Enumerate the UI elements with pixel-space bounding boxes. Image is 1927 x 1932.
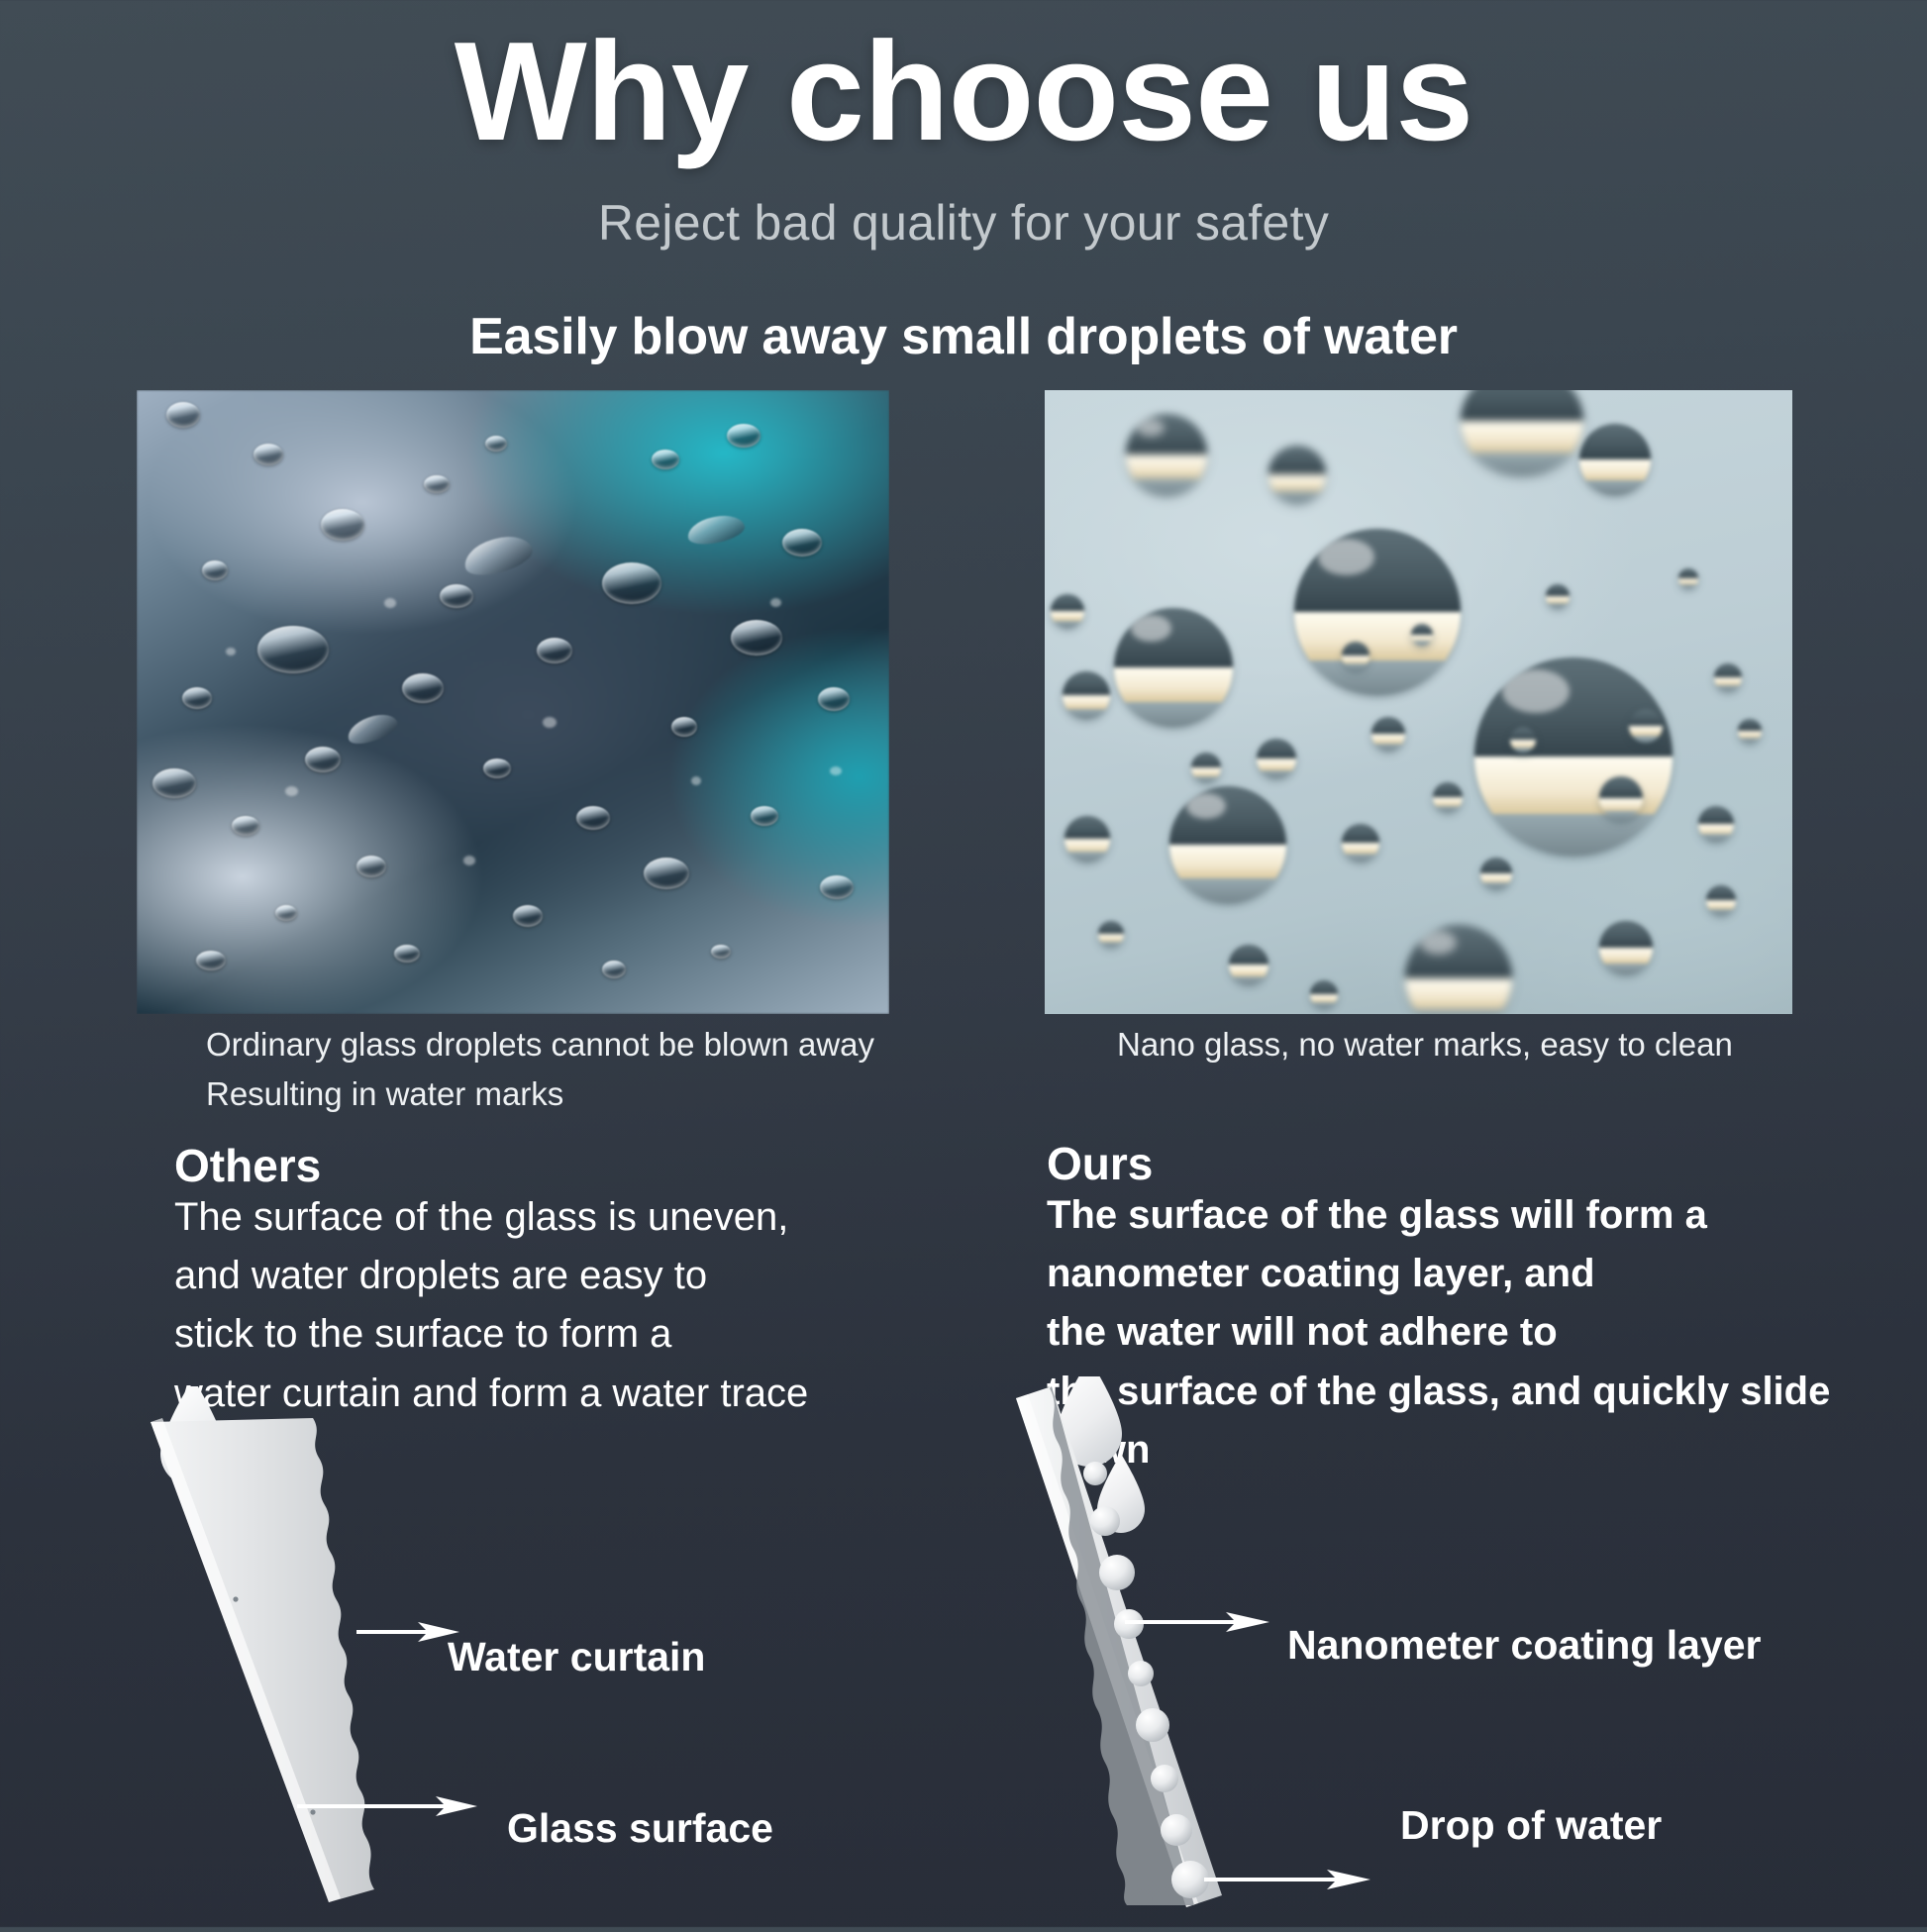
arrow-drop-of-water-icon — [1204, 1870, 1370, 1889]
glass-strip-uneven — [151, 1418, 374, 1902]
ours-body-line-3: the water will not adhere to — [1047, 1303, 1927, 1362]
others-body-line-2: and water droplets are easy to — [174, 1247, 808, 1305]
section-heading: Easily blow away small droplets of water — [0, 307, 1927, 366]
arrow-nanometer-coating-icon — [1125, 1612, 1269, 1632]
others-body-line-1: The surface of the glass is uneven, — [174, 1188, 808, 1247]
caption-ordinary-glass: Ordinary glass droplets cannot be blown … — [206, 1020, 874, 1118]
ours-body-line-1: The surface of the glass will form a — [1047, 1186, 1927, 1245]
page-subtitle: Reject bad quality for your safety — [0, 194, 1927, 252]
page-title: Why choose us — [0, 22, 1927, 162]
infographic-page: Why choose us Reject bad quality for you… — [0, 0, 1927, 1927]
caption-nano-line-1: Nano glass, no water marks, easy to clea… — [1117, 1020, 1733, 1069]
arrow-water-curtain-icon — [356, 1622, 459, 1642]
caption-ordinary-line-2: Resulting in water marks — [206, 1069, 874, 1119]
label-glass-surface: Glass surface — [507, 1805, 773, 1852]
others-body-line-3: stick to the surface to form a — [174, 1305, 808, 1364]
label-nanometer-coating-layer: Nanometer coating layer — [1287, 1622, 1762, 1669]
label-water-curtain: Water curtain — [448, 1634, 705, 1680]
label-drop-of-water: Drop of water — [1400, 1802, 1662, 1849]
photo-ordinary-glass — [137, 390, 889, 1014]
caption-nano-glass: Nano glass, no water marks, easy to clea… — [1117, 1020, 1733, 1069]
ours-block-title: Ours — [1047, 1137, 1153, 1190]
others-block-title: Others — [174, 1139, 321, 1192]
ours-body-line-2: nanometer coating layer, and — [1047, 1245, 1927, 1303]
photo-ordinary-glass-background — [137, 390, 889, 1014]
caption-ordinary-line-1: Ordinary glass droplets cannot be blown … — [206, 1020, 874, 1069]
photo-nano-glass — [1045, 390, 1792, 1014]
